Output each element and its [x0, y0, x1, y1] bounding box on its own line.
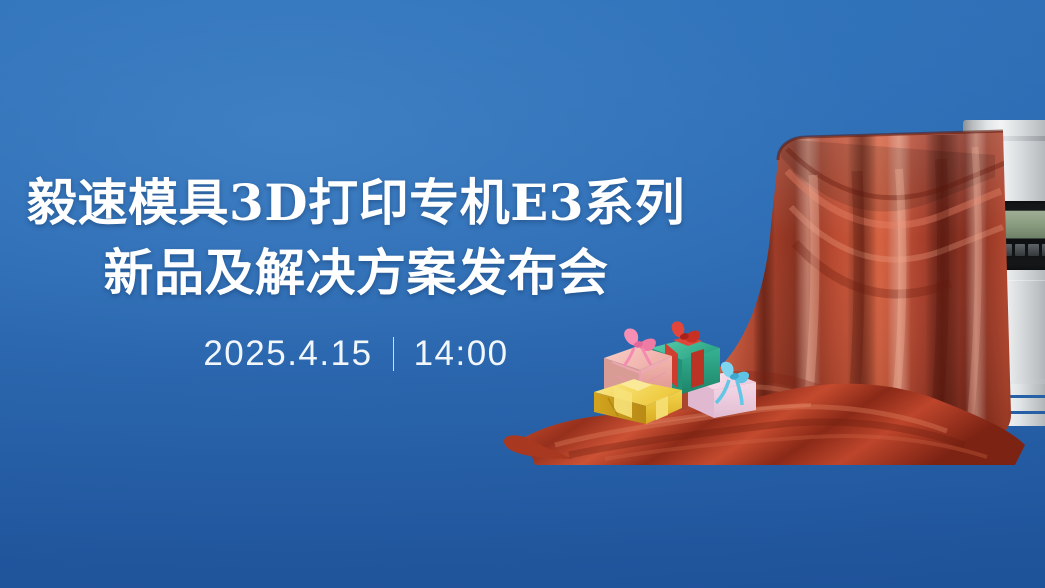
headline-line-1: 毅速模具3D打印专机E3系列	[0, 168, 712, 238]
event-datetime: 2025.4.15 14:00	[0, 334, 712, 374]
event-banner: 毅速模具3D打印专机E3系列 新品及解决方案发布会 2025.4.15 14:0…	[0, 0, 1045, 588]
headline-line-2: 新品及解决方案发布会	[0, 238, 712, 308]
event-time: 14:00	[414, 334, 509, 374]
headline-block: 毅速模具3D打印专机E3系列 新品及解决方案发布会 2025.4.15 14:0…	[0, 168, 712, 374]
datetime-separator	[393, 337, 394, 371]
event-date: 2025.4.15	[203, 334, 372, 374]
